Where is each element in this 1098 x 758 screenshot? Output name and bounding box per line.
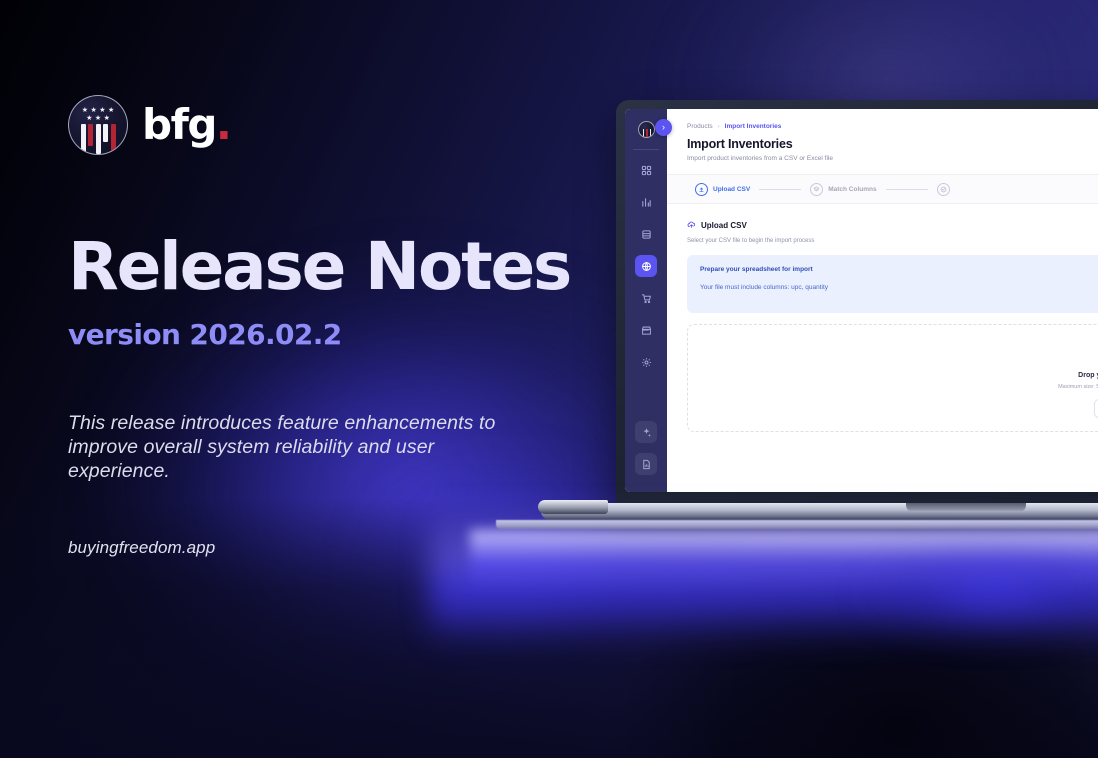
sidebar-item-stores[interactable] [635,319,657,341]
page-subtitle: Import product inventories from a CSV or… [687,155,1098,162]
emblem-stars-row: ★ ★ ★ ★ [69,107,127,114]
star-icon: ★ [95,115,101,122]
sidebar-bottom-group [635,416,657,492]
upload-card-title: Upload CSV [701,221,747,230]
sidebar-item-orders[interactable] [635,287,657,309]
globe-icon [641,261,652,272]
step-match-columns[interactable]: Match Columns [810,183,876,196]
right-light-beam [778,545,1098,665]
sidebar-item-ai-assistant[interactable] [635,421,657,443]
storefront-icon [641,325,652,336]
gear-icon [641,357,652,368]
sidebar-item-dashboard[interactable] [635,159,657,181]
avatar-bar [646,129,648,137]
sidebar-item-reports[interactable] [635,453,657,475]
bar-chart-icon [641,197,652,208]
emblem-bar [81,124,86,152]
cloud-upload-icon [687,216,696,234]
step-connector [886,189,928,190]
choose-file-button[interactable]: Choose File [1094,399,1098,418]
check-circle-icon [937,183,950,196]
emblem-bars [69,124,127,155]
avatar-bar [650,129,652,137]
sparkle-ai-icon [641,427,652,438]
upload-panel: Upload CSV Select your CSV file to begin… [667,204,1098,492]
step-label: Upload CSV [713,186,750,193]
emblem-stars-row: ★ ★ ★ [69,115,127,122]
emblem-bar [103,124,108,142]
page-heading: Release Notes [68,234,570,300]
laptop-screen: › [625,109,1098,492]
breadcrumb-current: Import Inventories [725,123,782,130]
sidebar-expand-button[interactable]: › [655,119,672,136]
step-connector [759,189,801,190]
star-icon: ★ [82,107,88,114]
app-sidebar: › [625,109,667,492]
sidebar-item-inventory[interactable] [635,255,657,277]
layers-icon [810,183,823,196]
sidebar-item-settings[interactable] [635,351,657,373]
sidebar-item-database[interactable] [635,223,657,245]
emblem-bar [111,124,116,152]
emblem-bar [88,124,93,146]
report-document-icon [641,459,652,470]
page-title: Import Inventories [687,137,1098,151]
bfg-circular-emblem-icon: ★ ★ ★ ★ ★ ★ ★ [68,95,128,155]
laptop-mockup: › [616,100,1098,560]
step-upload-csv[interactable]: Upload CSV [695,183,750,196]
star-icon: ★ [86,115,92,122]
dropzone-meta: Maximum size: 50MB • Accepted formats: .… [1058,384,1098,390]
dashboard-grid-icon [641,165,652,176]
version-label: version 2026.02.2 [68,318,342,351]
step-label: Match Columns [828,186,876,193]
step-confirm[interactable] [937,183,955,196]
prepare-notice: Prepare your spreadsheet for import Your… [687,255,1098,313]
brand-accent-dot: . [216,100,230,149]
release-description: This release introduces feature enhancem… [68,411,518,484]
shopping-cart-icon [641,293,652,304]
upload-card-header: Upload CSV [687,216,1098,234]
chevron-right-icon: › [718,124,720,130]
breadcrumb: Products › Import Inventories [687,123,1098,130]
brand-wordmark-text: bfg [142,100,216,149]
dropzone-title: Drop your file here or browse [1078,372,1098,379]
sidebar-divider [633,149,659,150]
star-icon: ★ [108,107,114,114]
notice-text: Your file must include columns: upc, qua… [700,284,1098,291]
site-url: buyingfreedom.app [68,538,215,558]
notice-title: Prepare your spreadsheet for import [700,266,1098,273]
star-icon: ★ [90,107,96,114]
star-icon: ★ [104,115,110,122]
file-dropzone[interactable]: Drop your file here or browse Maximum si… [687,324,1098,432]
left-content: ★ ★ ★ ★ ★ ★ ★ bfg. Release Notes version… [68,0,588,758]
brand-wordmark: bfg. [142,104,230,146]
star-icon: ★ [99,107,105,114]
brand-lockup: ★ ★ ★ ★ ★ ★ ★ bfg. [68,95,230,155]
breadcrumb-parent[interactable]: Products [687,123,713,130]
sidebar-item-analytics[interactable] [635,191,657,213]
sidebar-brand-avatar[interactable] [638,121,655,138]
laptop-lid: › [616,100,1098,503]
emblem-bar [96,124,101,154]
app-main: Products › Import Inventories Import Inv… [667,109,1098,492]
database-icon [641,229,652,240]
avatar-bar [643,129,645,137]
upload-card-subtitle: Select your CSV file to begin the import… [687,238,1098,244]
upload-circle-icon [695,183,708,196]
app-header: Products › Import Inventories Import Inv… [667,109,1098,162]
import-stepper: Upload CSV Match Columns [667,174,1098,204]
